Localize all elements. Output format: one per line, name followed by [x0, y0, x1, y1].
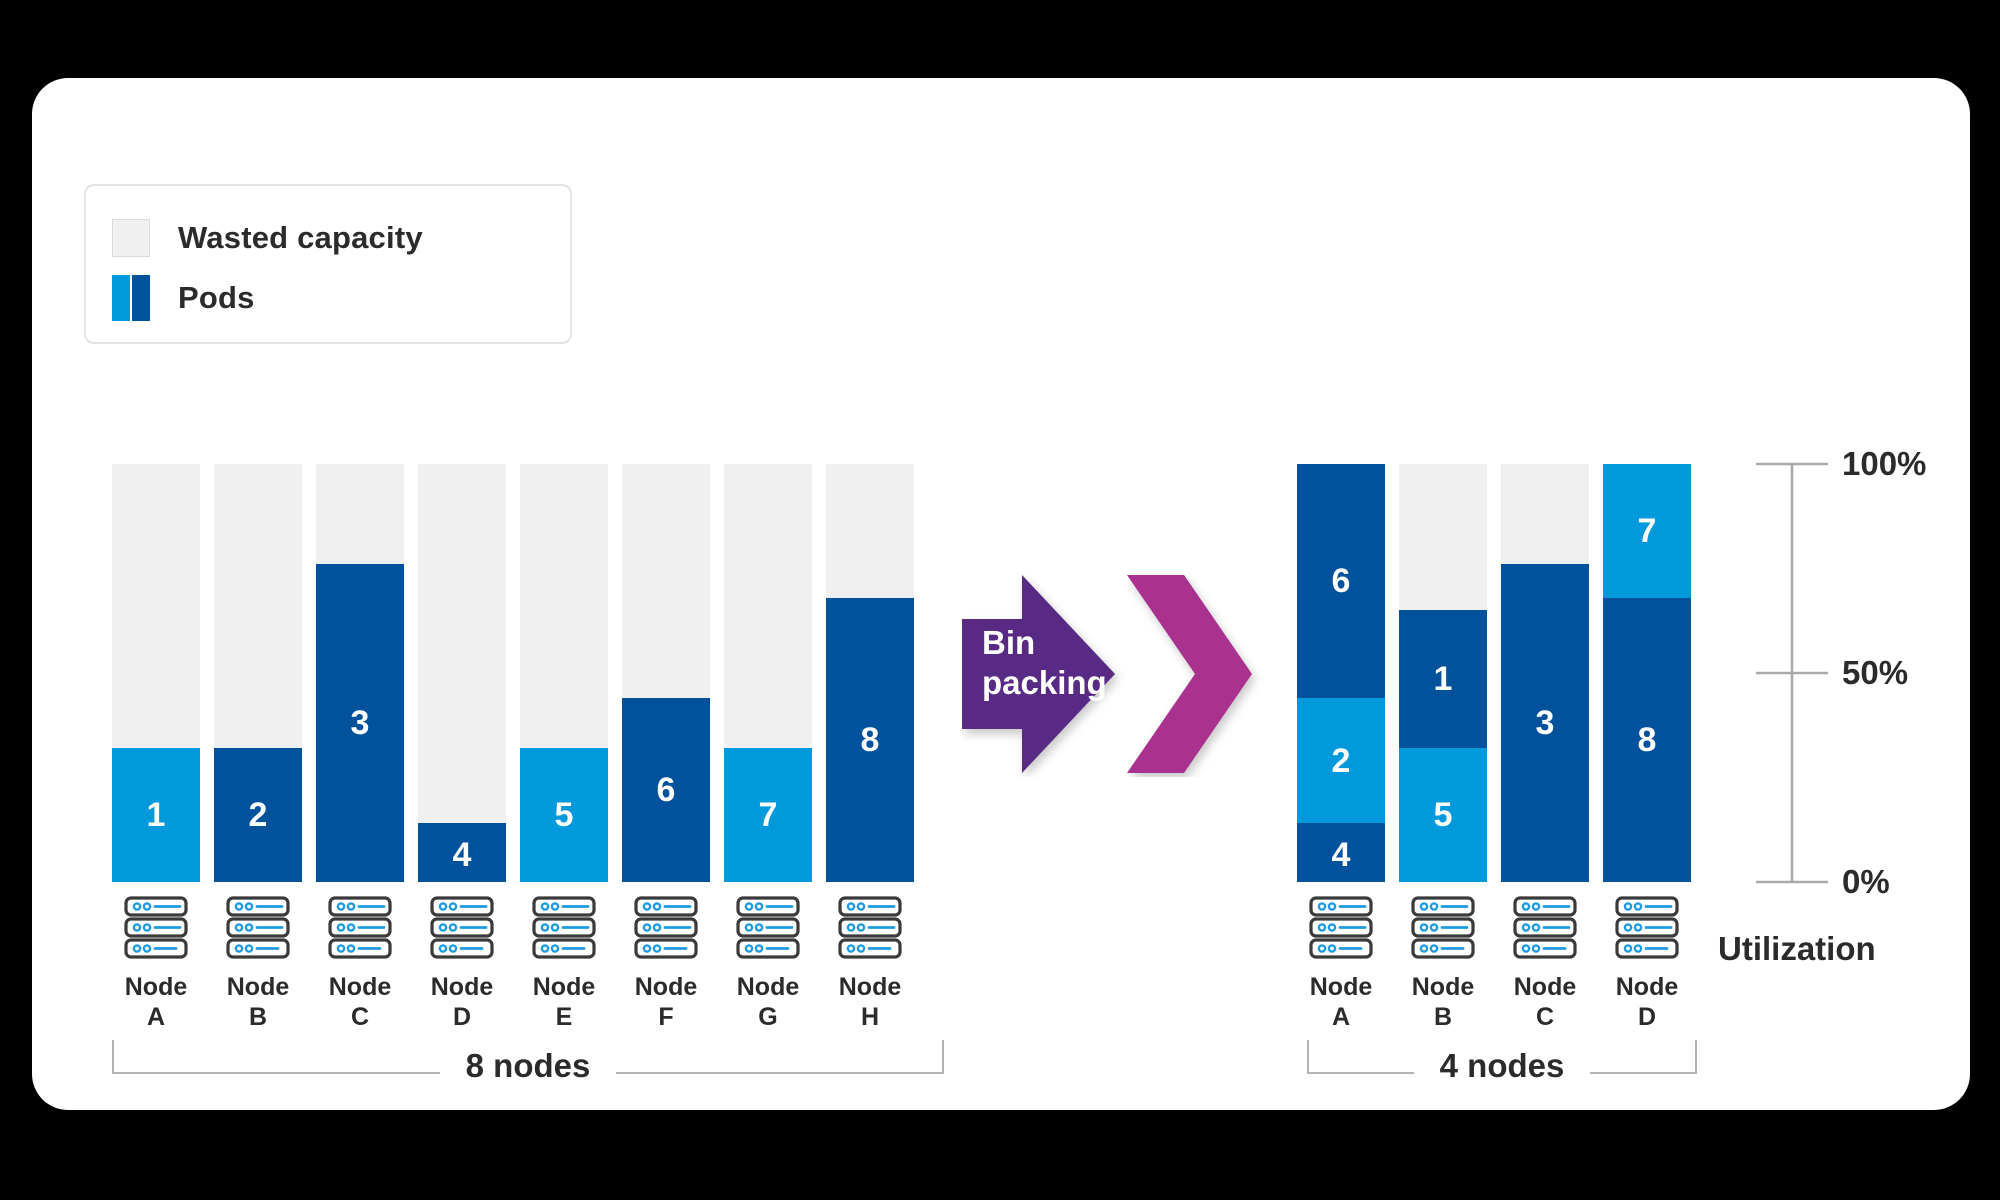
bar-column: 1 — [112, 464, 200, 882]
node-label: NodeE — [533, 972, 596, 1032]
pod-label: 2 — [249, 798, 268, 832]
pod-segment: 6 — [1297, 464, 1385, 698]
server-icon — [634, 896, 698, 962]
pod-segment: 8 — [1603, 598, 1691, 882]
bar-track-wasted-capacity: 4 — [418, 464, 506, 882]
server-icon — [1513, 896, 1577, 962]
node-label: NodeB — [227, 972, 290, 1032]
node-cell: NodeC — [316, 882, 404, 1032]
pod-label: 8 — [1638, 723, 1657, 757]
wasted-capacity-swatch-icon — [112, 219, 150, 257]
pod-label: 7 — [1638, 514, 1657, 548]
server-icon — [1615, 896, 1679, 962]
bin-packing-arrow: Bin packing — [962, 571, 1272, 777]
pod-label: 6 — [657, 773, 676, 807]
node-label: NodeG — [737, 972, 800, 1032]
node-label-line1: Node — [1412, 972, 1475, 1002]
pod-label: 3 — [1536, 706, 1555, 740]
bar-track-wasted-capacity: 6 — [622, 464, 710, 882]
legend-item-wasted-capacity: Wasted capacity — [112, 208, 570, 268]
node-label-line1: Node — [1514, 972, 1577, 1002]
axis-tick-label: 100% — [1842, 445, 1926, 483]
bar-track-wasted-capacity: 2 — [214, 464, 302, 882]
bracket-arm-right — [616, 1040, 944, 1074]
bar-track-wasted-capacity: 624 — [1297, 464, 1385, 882]
bar-track-wasted-capacity: 3 — [316, 464, 404, 882]
server-icon — [430, 896, 494, 962]
axis-tick-label: 50% — [1842, 654, 1908, 692]
node-label-line1: Node — [125, 972, 188, 1002]
server-icon — [838, 896, 902, 962]
bar-column: 4 — [418, 464, 506, 882]
bar-track-wasted-capacity: 7 — [724, 464, 812, 882]
server-icon — [736, 896, 800, 962]
node-label-line1: Node — [635, 972, 698, 1002]
node-cell: NodeB — [1399, 882, 1487, 1032]
pods-swatch-icon — [112, 275, 150, 321]
bar-column: 2 — [214, 464, 302, 882]
pod-label: 4 — [453, 838, 472, 872]
node-label: NodeC — [1514, 972, 1577, 1032]
bar-column: 5 — [520, 464, 608, 882]
node-label-line1: Node — [227, 972, 290, 1002]
bar-column: 3 — [1501, 464, 1589, 882]
pod-label: 5 — [555, 798, 574, 832]
node-label-line1: Node — [431, 972, 494, 1002]
utilization-axis: 100%50%0% — [1750, 458, 2000, 898]
node-cell: NodeF — [622, 882, 710, 1032]
bracket-8-nodes: 8 nodes — [112, 1038, 944, 1076]
pod-label: 7 — [759, 798, 778, 832]
pod-segment: 1 — [112, 748, 200, 882]
node-label: NodeB — [1412, 972, 1475, 1032]
pod-label: 4 — [1332, 838, 1351, 872]
pod-label: 8 — [861, 723, 880, 757]
bar-chart-left: 12345678 — [112, 464, 914, 882]
node-label-line2: F — [635, 1002, 698, 1032]
node-cell: NodeD — [1603, 882, 1691, 1032]
legend-label-pods: Pods — [178, 280, 255, 316]
legend: Wasted capacity Pods — [84, 184, 572, 344]
server-icon — [1309, 896, 1373, 962]
bar-column: 624 — [1297, 464, 1385, 882]
node-icons-right: NodeA NodeB — [1297, 882, 1691, 1032]
pod-segment: 3 — [316, 564, 404, 882]
pod-label: 1 — [1434, 662, 1453, 696]
bracket-arm-left — [112, 1040, 440, 1074]
bracket-label-8-nodes: 8 nodes — [440, 1047, 617, 1085]
node-label-line1: Node — [533, 972, 596, 1002]
node-label-line2: A — [1310, 1002, 1373, 1032]
node-label-line1: Node — [1310, 972, 1373, 1002]
bar-column: 7 — [724, 464, 812, 882]
bar-column: 15 — [1399, 464, 1487, 882]
pod-segment: 5 — [520, 748, 608, 882]
node-label-line1: Node — [329, 972, 392, 1002]
node-cell: NodeE — [520, 882, 608, 1032]
pod-segment: 6 — [622, 698, 710, 882]
node-label: NodeA — [125, 972, 188, 1032]
bar-column: 8 — [826, 464, 914, 882]
node-label-line2: D — [1616, 1002, 1679, 1032]
node-label-line1: Node — [1616, 972, 1679, 1002]
bracket-4-nodes: 4 nodes — [1307, 1038, 1697, 1076]
arrow-label-line1: Bin — [982, 623, 1107, 663]
pod-segment: 8 — [826, 598, 914, 882]
bar-track-wasted-capacity: 78 — [1603, 464, 1691, 882]
bar-track-wasted-capacity: 3 — [1501, 464, 1589, 882]
node-cell: NodeG — [724, 882, 812, 1032]
node-label: NodeC — [329, 972, 392, 1032]
server-icon — [532, 896, 596, 962]
pod-segment: 4 — [418, 823, 506, 882]
pod-segment: 2 — [214, 748, 302, 882]
bar-track-wasted-capacity: 1 — [112, 464, 200, 882]
legend-label-wasted-capacity: Wasted capacity — [178, 220, 423, 256]
node-label: NodeD — [431, 972, 494, 1032]
node-cell: NodeA — [1297, 882, 1385, 1032]
server-icon — [328, 896, 392, 962]
pod-segment: 7 — [1603, 464, 1691, 598]
legend-item-pods: Pods — [112, 268, 570, 328]
utilization-axis-caption: Utilization — [1718, 930, 1876, 968]
pod-label: 6 — [1332, 564, 1351, 598]
pod-label: 5 — [1434, 798, 1453, 832]
node-cell: NodeB — [214, 882, 302, 1032]
bar-chart-right: 62415378 — [1297, 464, 1691, 882]
server-icon — [1411, 896, 1475, 962]
node-cell: NodeC — [1501, 882, 1589, 1032]
node-label-line1: Node — [839, 972, 902, 1002]
bracket-label-4-nodes: 4 nodes — [1414, 1047, 1591, 1085]
server-icon — [124, 896, 188, 962]
arrow-label-line2: packing — [982, 663, 1107, 703]
node-label-line2: G — [737, 1002, 800, 1032]
node-label-line2: A — [125, 1002, 188, 1032]
node-label: NodeA — [1310, 972, 1373, 1032]
axis-tick-label: 0% — [1842, 863, 1890, 901]
node-label-line2: C — [1514, 1002, 1577, 1032]
bar-track-wasted-capacity: 15 — [1399, 464, 1487, 882]
node-label: NodeD — [1616, 972, 1679, 1032]
bar-column: 78 — [1603, 464, 1691, 882]
bar-column: 3 — [316, 464, 404, 882]
pod-label: 3 — [351, 706, 370, 740]
pod-segment: 3 — [1501, 564, 1589, 882]
pod-label: 1 — [147, 798, 166, 832]
diagram-card: Wasted capacity Pods 12345678 — [32, 78, 1970, 1110]
node-icons-left: NodeA NodeB — [112, 882, 914, 1032]
node-label-line2: C — [329, 1002, 392, 1032]
node-label-line1: Node — [737, 972, 800, 1002]
node-label: NodeF — [635, 972, 698, 1032]
pod-segment: 5 — [1399, 748, 1487, 882]
pod-segment: 1 — [1399, 610, 1487, 748]
arrow-chevron-secondary — [1127, 575, 1252, 773]
bar-track-wasted-capacity: 8 — [826, 464, 914, 882]
node-cell: NodeA — [112, 882, 200, 1032]
pod-segment: 4 — [1297, 823, 1385, 882]
bar-track-wasted-capacity: 5 — [520, 464, 608, 882]
node-label-line2: B — [1412, 1002, 1475, 1032]
bracket-arm-left — [1307, 1040, 1414, 1074]
bracket-arm-right — [1590, 1040, 1697, 1074]
node-label-line2: D — [431, 1002, 494, 1032]
node-label-line2: E — [533, 1002, 596, 1032]
node-cell: NodeD — [418, 882, 506, 1032]
server-icon — [226, 896, 290, 962]
node-cell: NodeH — [826, 882, 914, 1032]
pod-label: 2 — [1332, 744, 1351, 778]
node-label-line2: B — [227, 1002, 290, 1032]
node-label: NodeH — [839, 972, 902, 1032]
bin-packing-arrow-label: Bin packing — [982, 623, 1107, 704]
pod-segment: 7 — [724, 748, 812, 882]
pod-segment: 2 — [1297, 698, 1385, 823]
node-label-line2: H — [839, 1002, 902, 1032]
bar-column: 6 — [622, 464, 710, 882]
